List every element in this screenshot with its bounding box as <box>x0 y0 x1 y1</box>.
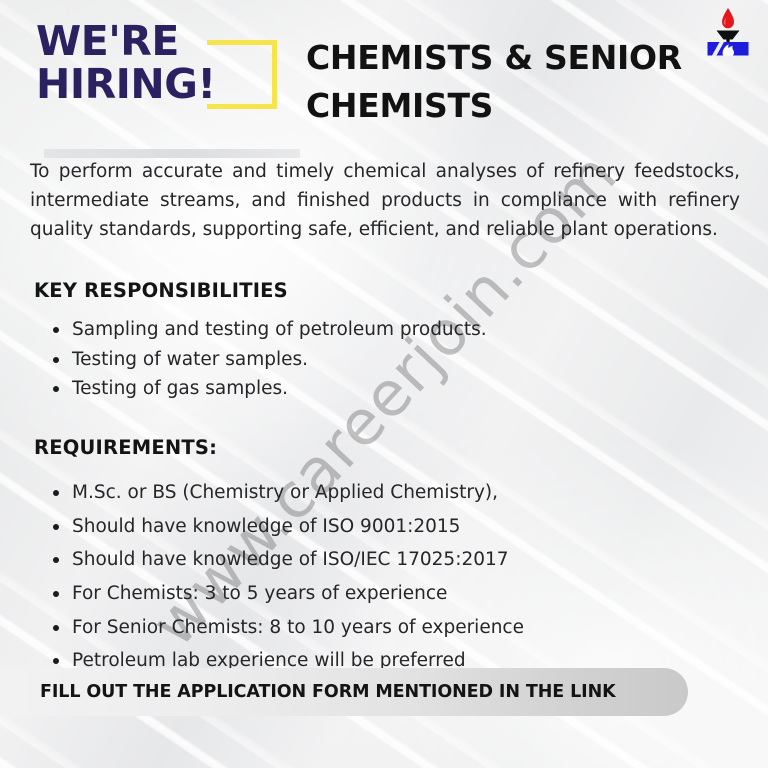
list-item: Should have knowledge of ISO/IEC 17025:2… <box>72 546 768 575</box>
job-summary-paragraph: To perform accurate and timely chemical … <box>30 158 740 245</box>
application-cta-text: FILL OUT THE APPLICATION FORM MENTIONED … <box>0 682 616 702</box>
responsibilities-list: Sampling and testing of petroleum produc… <box>72 316 768 404</box>
list-item: For Chemists: 3 to 5 years of experience <box>72 580 768 609</box>
hiring-badge-line1: WE'RE <box>36 17 179 65</box>
list-item: Testing of gas samples. <box>72 375 768 404</box>
job-title-block: CHEMISTS & SENIOR CHEMISTS <box>286 22 768 130</box>
header-divider-bar <box>44 149 300 158</box>
poster-content: WE'RE HIRING! CHEMISTS & SENIOR CHEMISTS <box>0 0 768 676</box>
hiring-badge-text: WE'RE HIRING! <box>36 22 286 105</box>
hiring-badge: WE'RE HIRING! <box>0 22 286 105</box>
hiring-badge-line2: HIRING! <box>36 65 286 104</box>
page-title: CHEMISTS & SENIOR CHEMISTS <box>306 34 698 130</box>
job-poster: www.careerjoin.com WE'RE HIRING! CHEMIST… <box>0 0 768 768</box>
list-item: M.Sc. or BS (Chemistry or Applied Chemis… <box>72 479 768 508</box>
poster-header: WE'RE HIRING! CHEMISTS & SENIOR CHEMISTS <box>0 0 768 130</box>
list-item: For Senior Chemists: 8 to 10 years of ex… <box>72 614 768 643</box>
refinery-torch-logo <box>702 6 754 58</box>
requirements-heading: REQUIREMENTS: <box>34 436 768 459</box>
list-item: Sampling and testing of petroleum produc… <box>72 316 768 345</box>
responsibilities-heading: KEY RESPONSIBILITIES <box>34 279 768 302</box>
requirements-list: M.Sc. or BS (Chemistry or Applied Chemis… <box>72 479 768 676</box>
list-item: Should have knowledge of ISO 9001:2015 <box>72 513 768 542</box>
application-cta-banner[interactable]: FILL OUT THE APPLICATION FORM MENTIONED … <box>0 668 688 716</box>
list-item: Testing of water samples. <box>72 346 768 375</box>
